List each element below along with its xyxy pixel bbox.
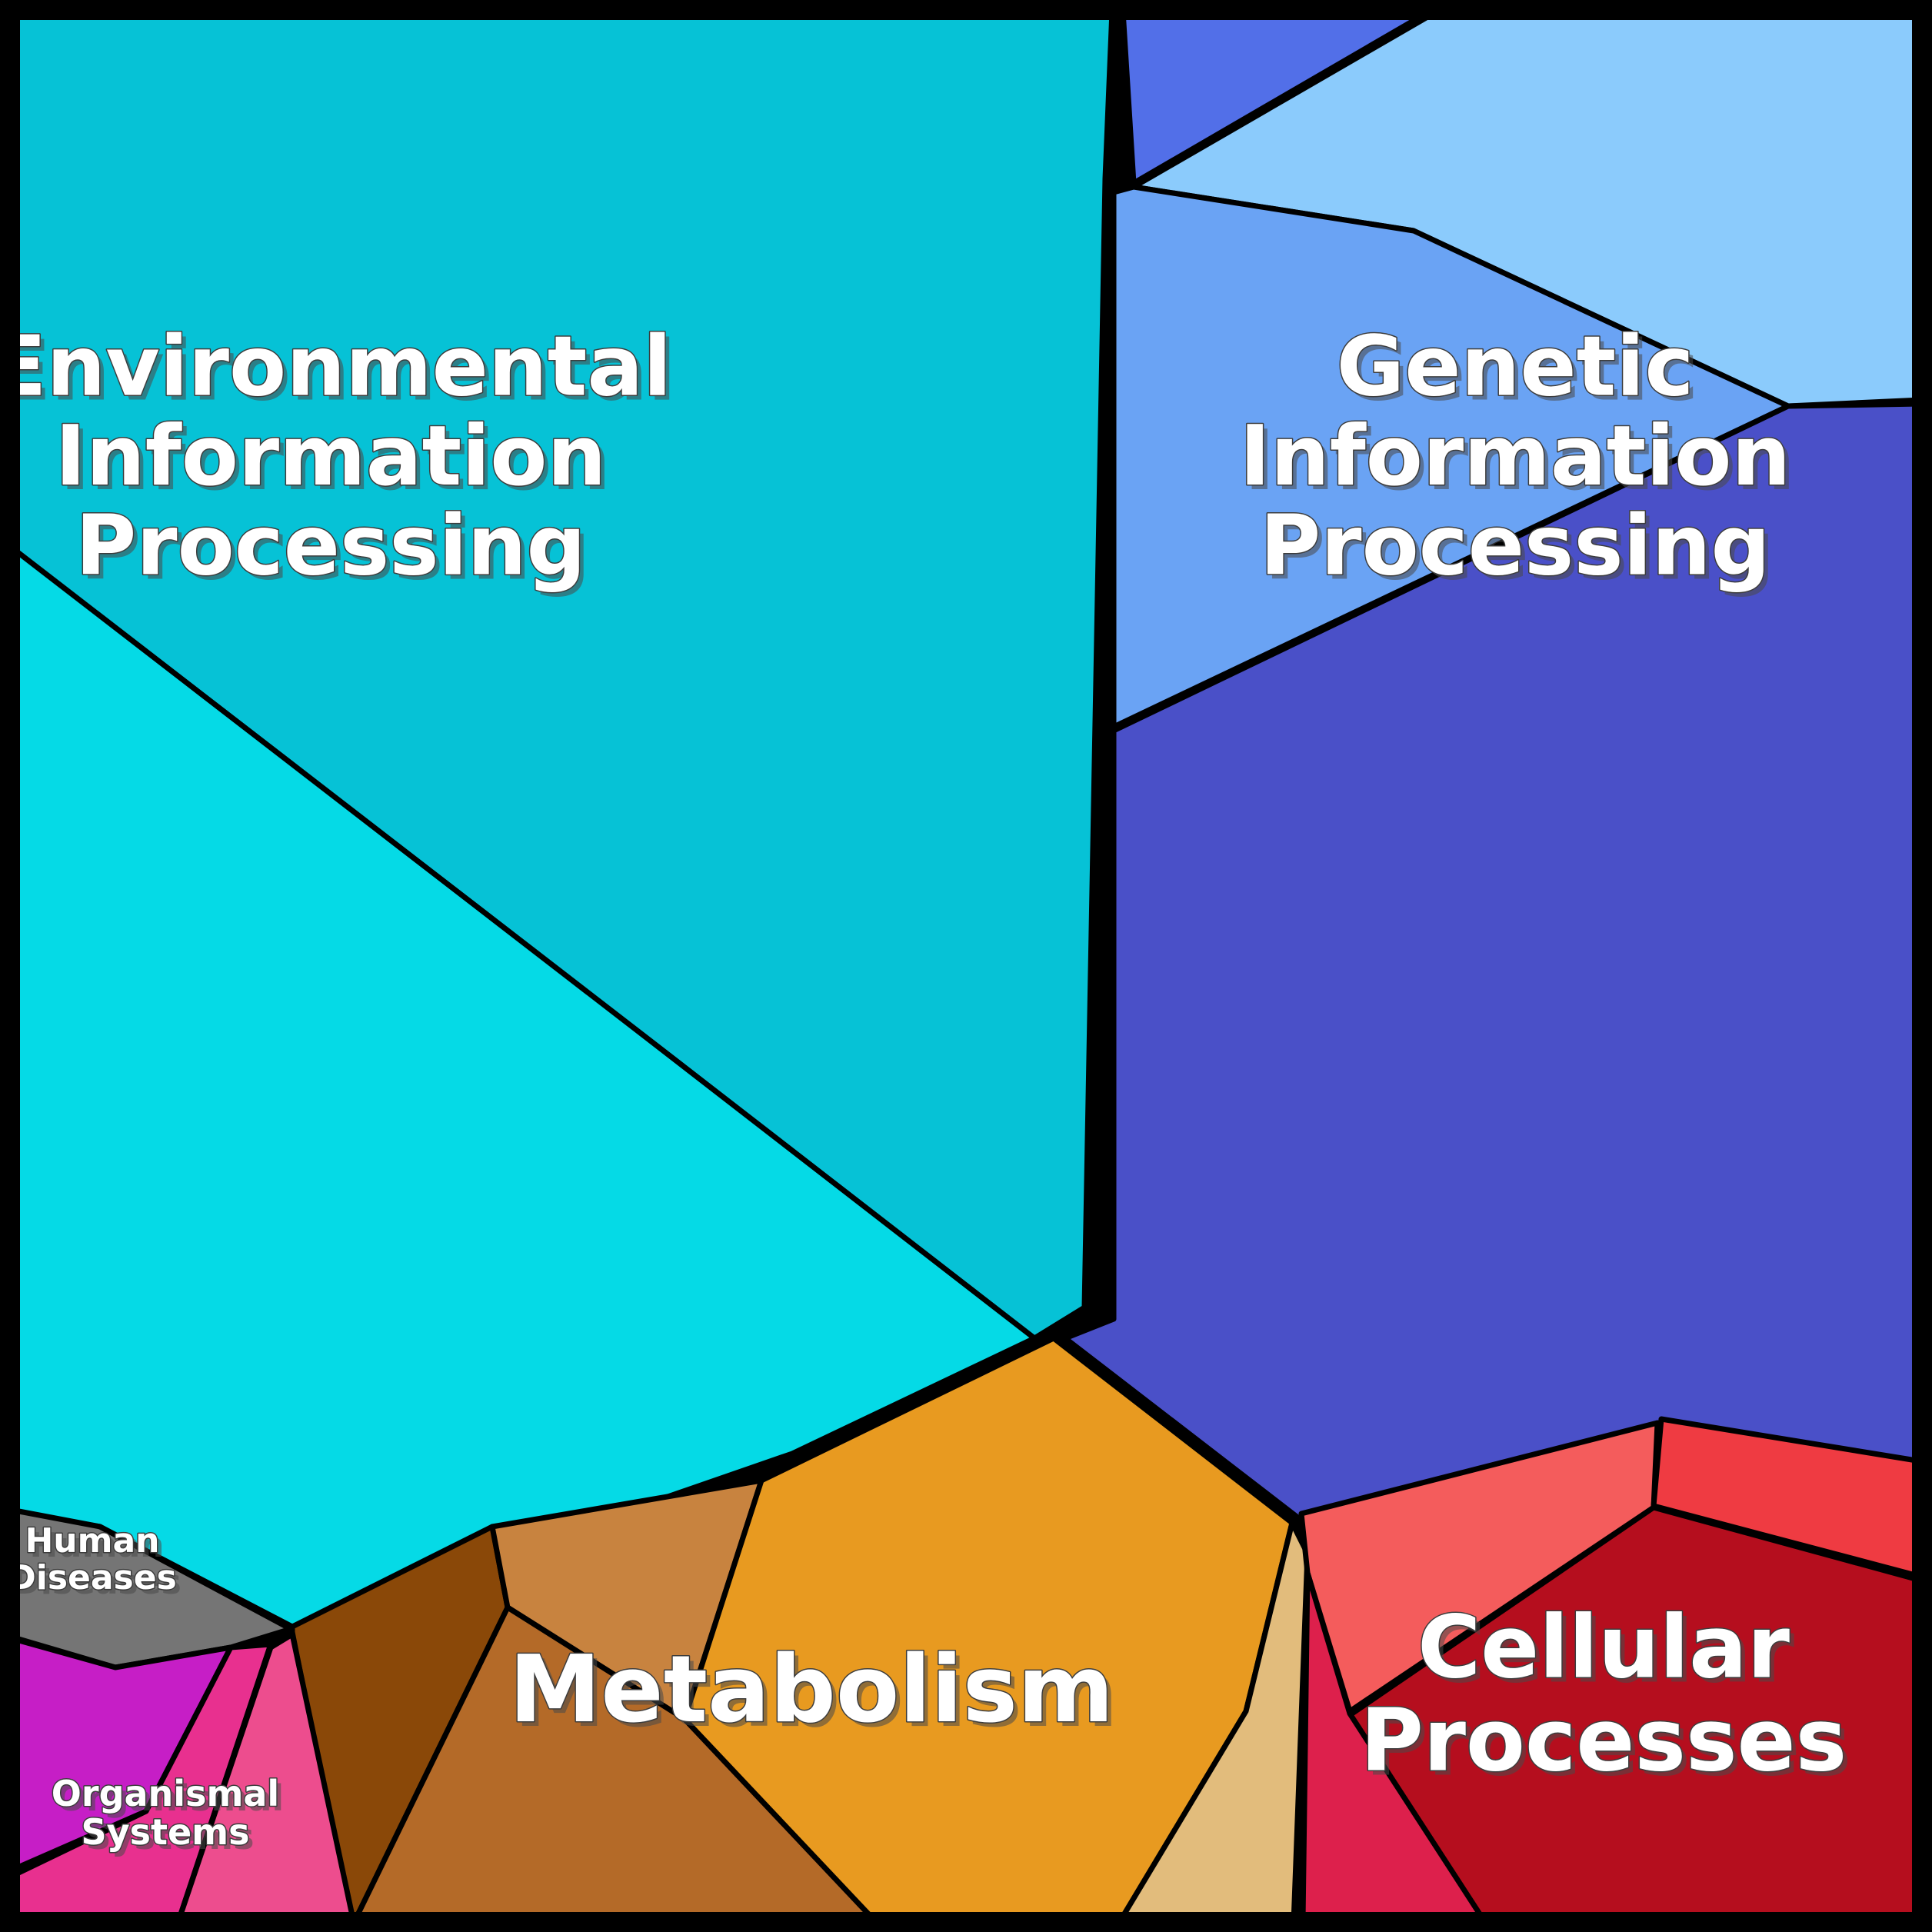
human-diseases-label: HumanDiseases xyxy=(8,1521,177,1597)
voronoi-treemap: EnvironmentalInformationProcessingEnviro… xyxy=(0,0,1932,1932)
voronoi-treemap-svg: EnvironmentalInformationProcessingEnviro… xyxy=(0,0,1932,1932)
organismal-systems-label: OrganismalSystems xyxy=(52,1773,279,1853)
treemap-group-genetic-information-processing[interactable] xyxy=(1065,11,1921,1519)
environmental-information-processing-label: EnvironmentalInformationProcessing xyxy=(0,318,671,594)
cellular-processes-label: CellularProcesses xyxy=(1361,1597,1847,1790)
metabolism-label: Metabolism xyxy=(509,1637,1114,1744)
